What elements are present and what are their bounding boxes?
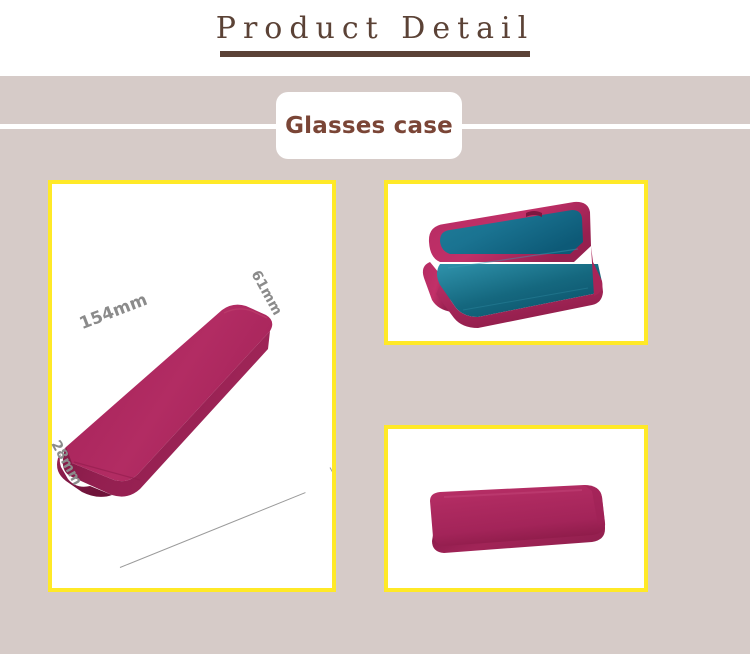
panel-open-case-photo [384,180,648,345]
open-photo-stage [388,184,644,341]
product-detail-page: Product Detail Glasses case [0,0,750,654]
page-title: Product Detail [0,11,750,46]
glasses-case-angled-illustration [52,184,332,588]
main-photo-stage [52,184,332,588]
glasses-case-open-illustration [388,184,644,341]
glasses-case-closed-illustration [388,429,644,588]
panel-side-case-photo [384,425,648,592]
side-photo-stage [388,429,644,588]
title-underline-rule [220,51,530,57]
page-header: Product Detail [0,0,750,76]
section-label-card: Glasses case [276,92,462,159]
section-label-text: Glasses case [285,113,453,139]
panel-main-product-photo [48,180,336,592]
